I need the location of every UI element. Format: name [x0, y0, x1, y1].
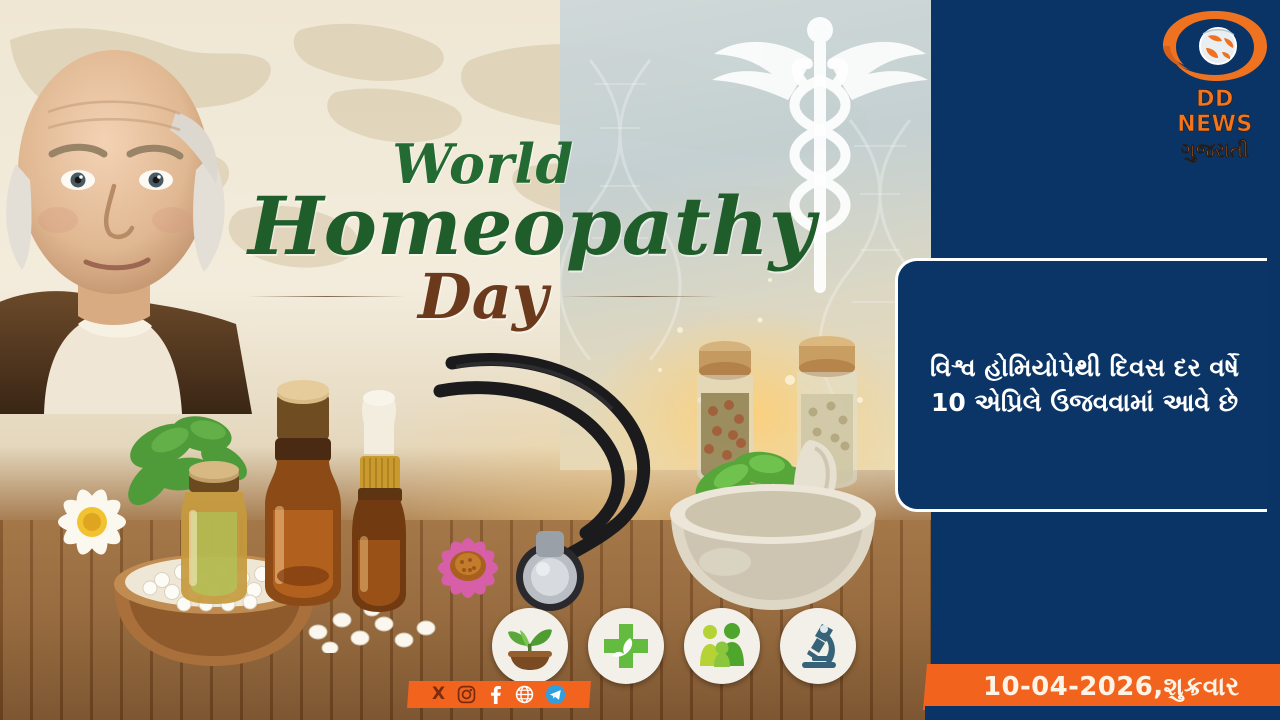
theme-badge-row [492, 608, 856, 684]
title-line-homeopathy: Homeopathy [248, 190, 718, 264]
headline-text: વિશ્વ હોમિયોપેથી દિવસ દર વર્ષે 10 એપ્રિલ… [924, 350, 1245, 421]
news-graphic-canvas: World Homeopathy Day [0, 0, 1280, 720]
dd-news-language-label: ગુજરાતી [1160, 138, 1270, 162]
badge-family-health[interactable] [684, 608, 760, 684]
website-globe-icon[interactable] [515, 685, 534, 704]
poster-photo-area: World Homeopathy Day [0, 0, 931, 720]
date-text: 10-04-2026,શુક્રવાર [983, 672, 1240, 703]
mortar-and-pestle-with-mint [655, 430, 890, 615]
family-health-icon [696, 620, 748, 672]
microscope-icon [792, 620, 844, 672]
badge-medical-cross[interactable] [588, 608, 664, 684]
telegram-icon[interactable] [545, 684, 566, 705]
dd-news-wordmark: DD NEWS [1160, 87, 1270, 137]
title-rule-left [248, 296, 406, 297]
date-bar: 10-04-2026,શુક્રવાર [923, 664, 1280, 710]
poster-title: World Homeopathy Day [248, 132, 718, 328]
x-twitter-icon[interactable]: X [432, 686, 445, 703]
social-links-bar: X [407, 681, 591, 708]
title-day-row: Day [248, 266, 718, 328]
badge-microscope[interactable] [780, 608, 856, 684]
instagram-icon[interactable] [457, 685, 476, 704]
date-bar-underlay [925, 706, 1280, 720]
badge-herbal-plant[interactable] [492, 608, 568, 684]
facebook-icon[interactable] [487, 685, 504, 704]
amber-remedy-bottle-small [175, 440, 253, 605]
title-line-day: Day [418, 266, 548, 328]
dropper-bottle [340, 390, 418, 615]
dd-news-logo[interactable]: DD NEWS ગુજરાતી [1160, 8, 1270, 143]
headline-card: વિશ્વ હોમિયોપેથી દિવસ દર વર્ષે 10 એપ્રિલ… [895, 258, 1267, 512]
title-rule-right [560, 296, 718, 297]
dd-logo-eye-mark [1160, 8, 1270, 86]
medical-cross-icon [600, 620, 652, 672]
amber-remedy-bottle-large [255, 380, 351, 610]
samuel-hahnemann-portrait [0, 0, 256, 414]
herbal-plant-icon [504, 620, 556, 672]
dd-eye-icon [1160, 8, 1270, 86]
